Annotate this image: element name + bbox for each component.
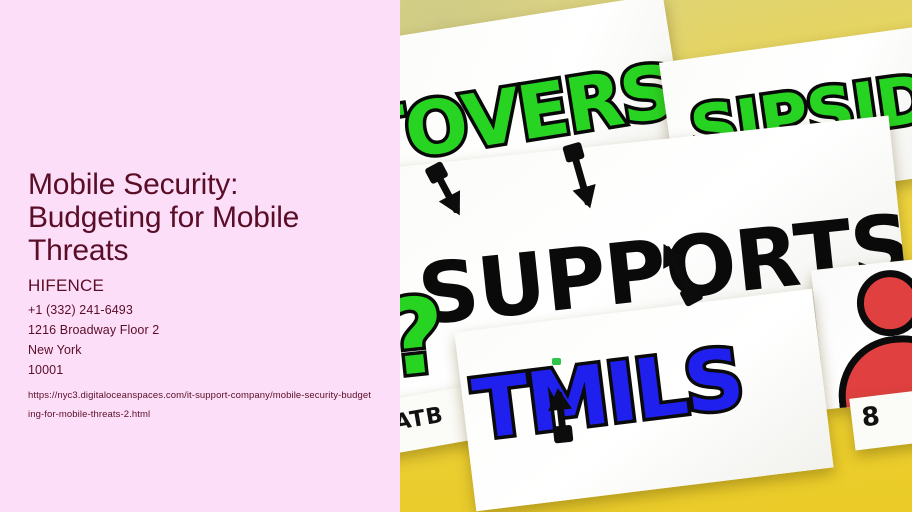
article-preview-card: Mobile Security: Budgeting for Mobile Th… bbox=[0, 0, 912, 512]
article-hero-image: TOVERS SIPSID SUPPORTS ? EATB 8 TMILS bbox=[400, 0, 912, 512]
sign-text-eight: 8 bbox=[860, 403, 881, 431]
green-dot-mark bbox=[552, 358, 561, 365]
source-url-link[interactable]: https://nyc3.digitaloceanspaces.com/it-s… bbox=[28, 386, 373, 424]
person-avatar-icon-head bbox=[854, 267, 912, 340]
page-title: Mobile Security: Budgeting for Mobile Th… bbox=[28, 168, 348, 267]
info-content: Mobile Security: Budgeting for Mobile Th… bbox=[28, 168, 376, 424]
sign-avatar-card bbox=[811, 255, 912, 410]
info-panel: Mobile Security: Budgeting for Mobile Th… bbox=[0, 0, 400, 512]
arrow-tail bbox=[553, 425, 574, 444]
address-line-1: 1216 Broadway Floor 2 bbox=[28, 320, 376, 340]
address-city: New York bbox=[28, 340, 376, 360]
arrow-head bbox=[546, 387, 572, 411]
sign-text-tmils: TMILS bbox=[469, 338, 746, 452]
address-zip: 10001 bbox=[28, 360, 376, 380]
sign-text-eatb: EATB bbox=[400, 405, 446, 438]
phone-number[interactable]: +1 (332) 241-6493 bbox=[28, 300, 376, 320]
brand-name: HIFENCE bbox=[28, 275, 376, 297]
